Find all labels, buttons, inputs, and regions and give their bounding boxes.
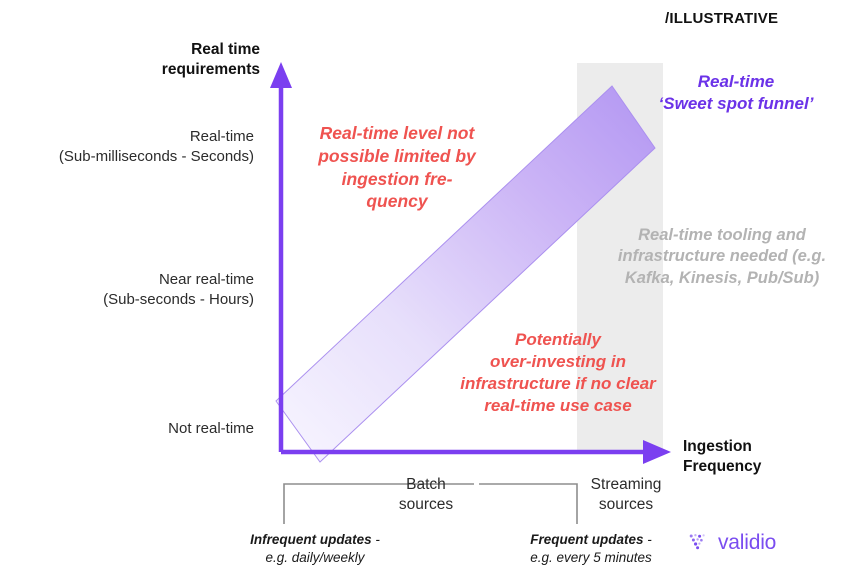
footer-note-infrequent-rest: -: [372, 532, 380, 547]
annotation-limit-line3: ingestion fre-: [291, 168, 503, 191]
validio-logo: validio: [688, 531, 776, 555]
y-tick-real-time-line2: (Sub-milliseconds - Seconds): [59, 147, 254, 167]
annotation-sweet-spot-line2: ‘Sweet spot funnel’: [620, 93, 852, 115]
x-axis-title-line2: Frequency: [683, 457, 761, 477]
annotation-limit-line1: Real-time level not: [291, 122, 503, 145]
annotation-limit-line4: quency: [291, 190, 503, 213]
footer-note-infrequent: Infrequent updates - e.g. daily/weekly: [192, 531, 438, 567]
annotation-limit: Real-time level not possible limited by …: [291, 122, 503, 213]
illustrative-diagram: /ILLUSTRATIVE Real time requirements: [0, 0, 852, 567]
footer-note-frequent-line2: e.g. every 5 minutes: [490, 549, 692, 567]
bracket-caption-batch: Batch sources: [366, 475, 486, 515]
footer-note-frequent: Frequent updates - e.g. every 5 minutes: [490, 531, 692, 567]
validio-mark-icon: [688, 531, 712, 555]
annotation-tooling-line2: infrastructure needed (e.g.: [592, 246, 852, 267]
annotation-over-investing-line3: infrastructure if no clear: [432, 373, 684, 395]
bracket-caption-batch-line2: sources: [366, 495, 486, 515]
footer-note-frequent-rest: -: [644, 532, 652, 547]
annotation-over-investing-line2: over-investing in: [432, 351, 684, 373]
bracket-caption-streaming-line2: sources: [570, 495, 682, 515]
annotation-over-investing-line4: real-time use case: [432, 395, 684, 417]
annotation-sweet-spot-line1: Real-time: [620, 71, 852, 93]
x-axis-title: Ingestion Frequency: [683, 437, 761, 477]
annotation-sweet-spot: Real-time ‘Sweet spot funnel’: [620, 71, 852, 115]
footer-note-frequent-line1: Frequent updates -: [490, 531, 692, 549]
y-tick-real-time-line1: Real-time: [59, 127, 254, 147]
y-axis-title: Real time requirements: [120, 40, 260, 80]
y-axis-title-line2: requirements: [120, 60, 260, 80]
annotation-over-investing-line1: Potentially: [432, 329, 684, 351]
annotation-tooling: Real-time tooling and infrastructure nee…: [592, 225, 852, 289]
bracket-caption-batch-line1: Batch: [366, 475, 486, 495]
footer-note-infrequent-line1: Infrequent updates -: [192, 531, 438, 549]
annotation-limit-line2: possible limited by: [291, 145, 503, 168]
annotation-tooling-line1: Real-time tooling and: [592, 225, 852, 246]
y-tick-not-real-time-line1: Not real-time: [168, 419, 254, 439]
x-axis-title-line1: Ingestion: [683, 437, 761, 457]
y-axis-arrow-icon: [270, 62, 292, 88]
validio-wordmark: validio: [718, 531, 776, 555]
annotation-over-investing: Potentially over-investing in infrastruc…: [432, 329, 684, 417]
y-tick-near-real-time: Near real-time (Sub-seconds - Hours): [103, 270, 254, 310]
bracket-caption-streaming: Streaming sources: [570, 475, 682, 515]
footer-note-infrequent-bold: Infrequent updates: [250, 532, 372, 547]
footer-note-frequent-bold: Frequent updates: [530, 532, 643, 547]
y-tick-not-real-time: Not real-time: [168, 419, 254, 439]
y-tick-near-real-time-line2: (Sub-seconds - Hours): [103, 290, 254, 310]
annotation-tooling-line3: Kafka, Kinesis, Pub/Sub): [592, 268, 852, 289]
streaming-sources-bracket: [479, 484, 577, 524]
bracket-caption-streaming-line1: Streaming: [570, 475, 682, 495]
footer-note-infrequent-line2: e.g. daily/weekly: [192, 549, 438, 567]
y-axis-title-line1: Real time: [120, 40, 260, 60]
y-tick-real-time: Real-time (Sub-milliseconds - Seconds): [59, 127, 254, 167]
y-tick-near-real-time-line1: Near real-time: [103, 270, 254, 290]
